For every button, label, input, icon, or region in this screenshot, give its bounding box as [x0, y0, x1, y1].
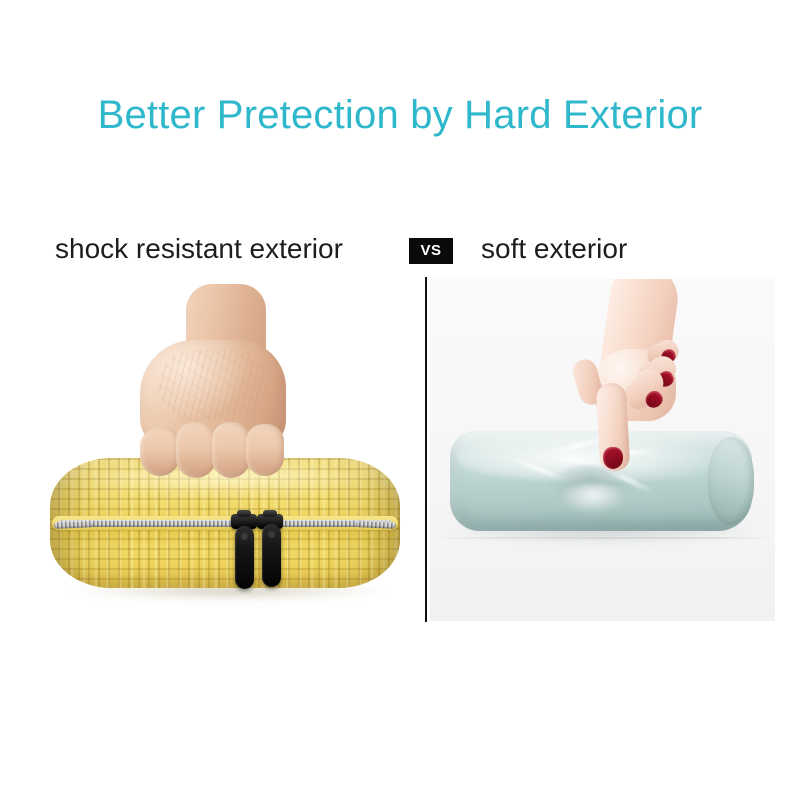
- comparison-label-row: shock resistant exterior soft exterior: [0, 228, 800, 270]
- fingernail: [603, 447, 623, 469]
- right-product-label: soft exterior: [481, 228, 627, 270]
- left-comparison-image: [32, 280, 417, 622]
- knuckle-4: [246, 424, 284, 476]
- zipper-pull-left: [235, 526, 254, 589]
- page-title: Better Pretection by Hard Exterior: [0, 92, 800, 138]
- vertical-divider: [425, 277, 427, 622]
- left-product-label: shock resistant exterior: [55, 228, 343, 270]
- knuckle-3: [212, 422, 250, 478]
- versus-badge: VS: [409, 238, 453, 264]
- knuckle-2: [176, 422, 216, 478]
- knuckle-1: [140, 427, 180, 476]
- press-dent-highlight: [560, 483, 626, 513]
- pointing-hand: [558, 279, 690, 475]
- hard-case-product: [50, 458, 400, 593]
- pouch-end-cap: [708, 437, 754, 525]
- comparison-infographic: Better Pretection by Hard Exterior shock…: [0, 0, 800, 800]
- fist-hand: [136, 288, 288, 478]
- right-comparison-image: [430, 279, 775, 621]
- zipper-pull-right: [262, 524, 281, 587]
- zipper-teeth: [58, 520, 392, 527]
- skin-wrinkles: [158, 350, 266, 420]
